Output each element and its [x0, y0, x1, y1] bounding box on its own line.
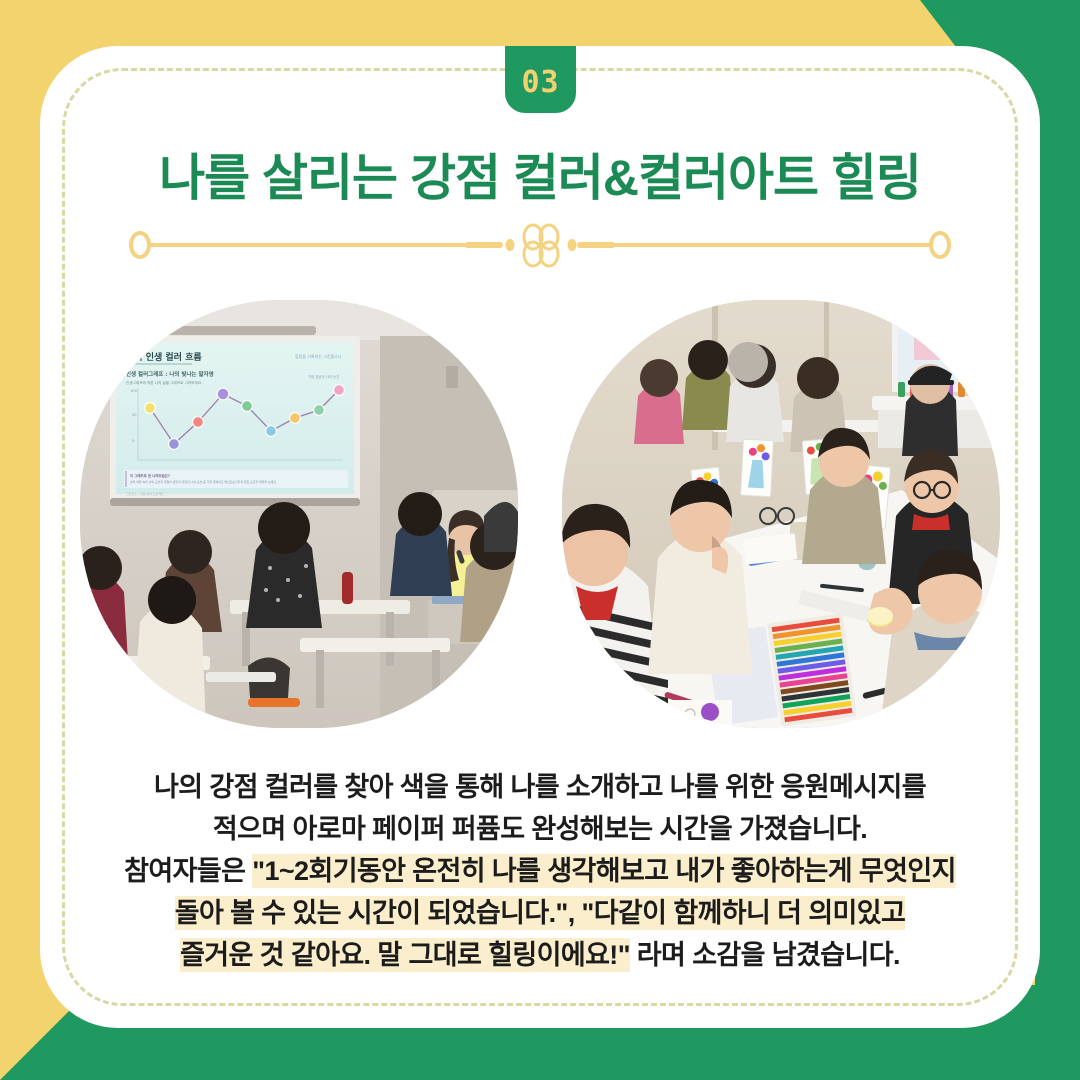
svg-text:100: 100	[130, 389, 138, 393]
divider-dot-left	[506, 239, 515, 251]
body-line-1: 나의 강점 컬러를 찾아 색을 통해 나를 소개하고 나를 위한 응원메시지를	[60, 766, 1020, 808]
ornament-divider	[128, 222, 952, 268]
svg-text:50: 50	[132, 413, 137, 417]
body-line-4: 돌아 볼 수 있는 시간이 되었습니다.", "다같이 함께하니 더 의미있고	[60, 892, 1020, 934]
step-number-badge: 03	[505, 46, 576, 113]
svg-text:삶의 여정 속의 나의 모습과 경험이 만들어 지었던 나의: 삶의 여정 속의 나의 모습과 경험이 만들어 지었던 나의 모습 중 가장 행…	[130, 479, 277, 484]
photo-gallery: 나의 인생 컬러 흐름 인생 컬러그래프 : 나의 빛나는 팔자영 인생그래프에…	[80, 300, 1000, 730]
svg-text:인생그래프에 따른 나의 삶을 그래프로 그려보세요.: 인생그래프에 따른 나의 삶을 그래프로 그려보세요.	[126, 380, 202, 385]
photo-lecture-room: 나의 인생 컬러 흐름 인생 컬러그래프 : 나의 빛나는 팔자영 인생그래프에…	[80, 300, 518, 728]
body-line-3-seg-2-highlight: "1~2회기동안 온전히 나를 생각해보고 내가 좋아하는게 무엇인지	[252, 854, 956, 888]
svg-text:힐링을 기록하는 그린힐스나: 힐링을 기록하는 그린힐스나	[295, 353, 342, 359]
photo-participants-artwork-image	[562, 300, 1000, 728]
body-line-2-seg-1: 적으며 아로마 페이퍼 퍼퓸도 완성해보는 시간을 가졌습니다.	[213, 814, 867, 844]
body-line-1-seg-1: 나의 강점 컬러를 찾아 색을 통해 나를 소개하고 나를 위한 응원메시지를	[154, 772, 926, 802]
poster-card: 03 나를 살리는 강점 컬러&컬러아트 힐링	[0, 0, 1080, 1080]
svg-text:가장 빛났던 나의 순간: 가장 빛났던 나의 순간	[308, 374, 339, 379]
svg-text:나의 인생 컬러 흐름: 나의 인생 컬러 흐름	[126, 351, 202, 363]
body-description: 나의 강점 컬러를 찾아 색을 통해 나를 소개하고 나를 위한 응원메시지를 …	[60, 766, 1020, 976]
body-line-5: 즐거운 것 같아요. 말 그대로 힐링이에요!" 라며 소감을 남겼습니다.	[60, 934, 1020, 976]
svg-text:이 그래프로 본 나의모습은?: 이 그래프로 본 나의모습은?	[130, 473, 170, 478]
photo-lecture-room-image: 나의 인생 컬러 흐름 인생 컬러그래프 : 나의 빛나는 팔자영 인생그래프에…	[80, 300, 518, 728]
body-line-5-seg-1-highlight: 즐거운 것 같아요. 말 그대로 힐링이에요!"	[180, 938, 630, 972]
body-line-3: 참여자들은 "1~2회기동안 온전히 나를 생각해보고 내가 좋아하는게 무엇인…	[60, 850, 1020, 892]
body-line-2: 적으며 아로마 페이퍼 퍼퓸도 완성해보는 시간을 가졌습니다.	[60, 808, 1020, 850]
svg-text:인생 컬러그래프 : 나의 빛나는 팔자영: 인생 컬러그래프 : 나의 빛나는 팔자영	[126, 370, 214, 378]
photo-participants-artwork	[562, 300, 1000, 728]
body-line-3-seg-1: 참여자들은	[124, 856, 252, 886]
divider-dot-right	[568, 239, 577, 251]
divider-left-circle	[131, 233, 149, 257]
divider-right-circle	[931, 233, 949, 257]
body-line-5-seg-2: 라며 소감을 남겼습니다.	[630, 940, 900, 970]
flower-icon	[524, 225, 558, 266]
page-title: 나를 살리는 강점 컬러&컬러아트 힐링	[60, 150, 1020, 208]
step-number-label: 03	[521, 68, 559, 98]
body-line-4-seg-1-highlight: 돌아 볼 수 있는 시간이 되었습니다.", "다같이 함께하니 더 의미있고	[175, 896, 906, 930]
svg-text:그린힐스 / 강점 컬러 프로젝트: 그린힐스 / 강점 컬러 프로젝트	[126, 491, 164, 496]
